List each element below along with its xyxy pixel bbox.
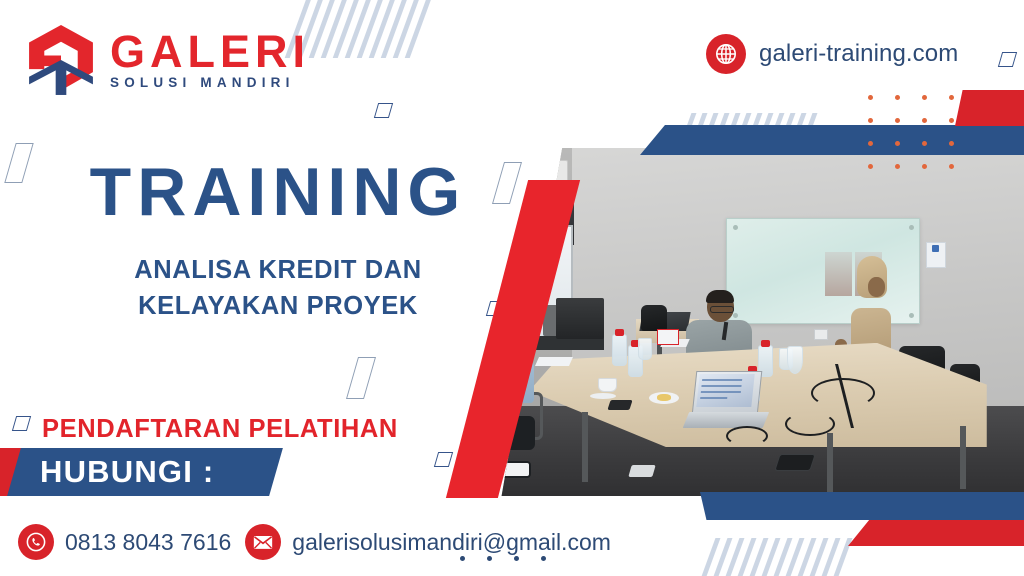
- brand-logo: GALERI SOLUSI MANDIRI: [22, 22, 310, 98]
- email-icon: [245, 524, 281, 560]
- phone-number[interactable]: 0813 8043 7616: [65, 529, 231, 556]
- wall-sign: [926, 242, 946, 268]
- headline-subtitle-line2: KELAYAKAN PROYEK: [78, 288, 478, 324]
- globe-icon: [706, 34, 746, 74]
- smartphone: [774, 454, 816, 471]
- coffee-machine: [556, 298, 604, 340]
- dot-grid-decoration: [868, 95, 954, 169]
- training-poster: GALERI SOLUSI MANDIRI galeri-training.co…: [0, 0, 1024, 576]
- headline-subtitle-line1: ANALISA KREDIT DAN: [78, 252, 478, 288]
- navy-band-bottom: [700, 492, 1024, 520]
- decor-parallelogram: [998, 52, 1017, 67]
- decor-parallelogram: [434, 452, 453, 467]
- contact-row: 0813 8043 7616 galerisolusimandiri@gmail…: [18, 524, 611, 560]
- red-block-top: [955, 90, 1024, 126]
- registration-heading: PENDAFTARAN PELATIHAN: [0, 415, 440, 444]
- red-band-bottom: [848, 520, 1024, 546]
- brand-tagline: SOLUSI MANDIRI: [110, 75, 310, 91]
- contact-phone[interactable]: 0813 8043 7616: [18, 524, 231, 560]
- website-block[interactable]: galeri-training.com: [706, 34, 958, 74]
- glass-whiteboard: [726, 218, 920, 324]
- contact-email[interactable]: galerisolusimandiri@gmail.com: [245, 524, 611, 560]
- diagonal-stripes-bottom-right: [697, 538, 853, 576]
- website-url[interactable]: galeri-training.com: [759, 40, 958, 68]
- headline-subtitle: ANALISA KREDIT DAN KELAYAKAN PROYEK: [78, 252, 478, 324]
- headline-block: TRAINING ANALISA KREDIT DAN KELAYAKAN PR…: [78, 158, 478, 324]
- page-title: TRAINING: [78, 158, 478, 226]
- email-address[interactable]: galerisolusimandiri@gmail.com: [292, 529, 611, 556]
- contact-banner-label: HUBUNGI :: [40, 448, 280, 496]
- decor-parallelogram: [374, 103, 393, 118]
- decor-parallelogram: [346, 357, 376, 399]
- brand-name: GALERI: [110, 30, 310, 74]
- decor-parallelogram: [4, 143, 33, 183]
- decor-parallelogram: [492, 162, 522, 204]
- galeri-hexagon-gs-logo-icon: [22, 22, 100, 98]
- navy-band-top: [640, 125, 1024, 155]
- footer-dots-decoration: [460, 556, 546, 561]
- whatsapp-icon: [18, 524, 54, 560]
